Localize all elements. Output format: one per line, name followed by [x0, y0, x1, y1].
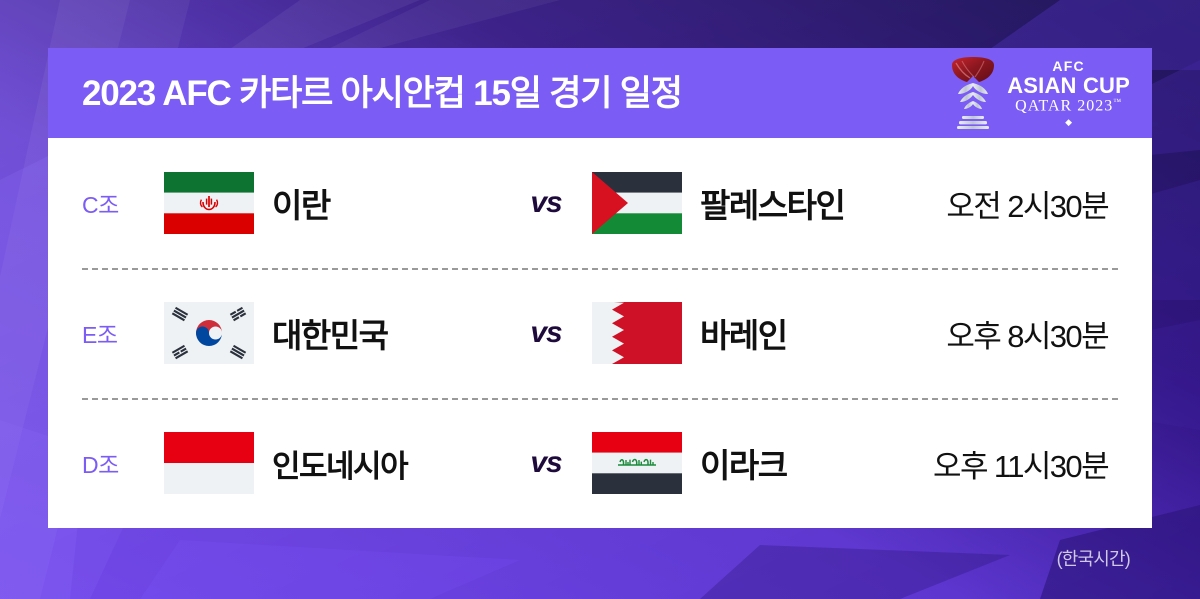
home-team: 대한민국	[164, 302, 500, 364]
vs-label: vs	[500, 316, 592, 350]
home-team: 이란	[164, 172, 500, 234]
vs-label: vs	[500, 186, 592, 220]
card-header: 2023 AFC 카타르 아시안컵 15일 경기 일정	[48, 48, 1152, 138]
logo-line-afc: AFC	[1052, 59, 1084, 73]
vs-label: vs	[500, 446, 592, 480]
timezone-note: (한국시간)	[1057, 545, 1130, 571]
iraq-flag	[592, 432, 682, 494]
team-name: 대한민국	[272, 309, 387, 357]
iran-flag	[164, 172, 254, 234]
trophy-icon	[946, 56, 1000, 130]
team-name: 인도네시아	[272, 441, 407, 486]
away-team: 이라크	[592, 432, 922, 494]
team-name: 바레인	[700, 309, 787, 357]
match-time: 오후 11시30분	[922, 441, 1118, 486]
diamond-icon: ◆	[1065, 118, 1072, 127]
logo-line-qatar-2023: QATAR 2023™	[1015, 98, 1122, 114]
group-label: D조	[82, 446, 164, 480]
away-team: 바레인	[592, 302, 922, 364]
match-list: C조	[48, 138, 1152, 528]
logo-wordmark: AFC ASIAN CUP QATAR 2023™ ◆	[1007, 59, 1130, 126]
match-row[interactable]: D조 인도네시아 vs	[82, 398, 1118, 528]
team-name: 팔레스타인	[700, 179, 844, 227]
match-time: 오전 2시30분	[922, 181, 1118, 226]
team-name: 이라크	[700, 439, 787, 487]
south-korea-flag	[164, 302, 254, 364]
group-label: C조	[82, 186, 164, 220]
bahrain-flag	[592, 302, 682, 364]
match-row[interactable]: E조	[82, 268, 1118, 398]
home-team: 인도네시아	[164, 432, 500, 494]
team-name: 이란	[272, 179, 330, 227]
trademark-symbol: ™	[1113, 97, 1122, 106]
logo-line-asian-cup: ASIAN CUP	[1007, 75, 1130, 97]
page-title: 2023 AFC 카타르 아시안컵 15일 경기 일정	[82, 76, 682, 111]
palestine-flag	[592, 172, 682, 234]
away-team: 팔레스타인	[592, 172, 922, 234]
match-time: 오후 8시30분	[922, 311, 1118, 356]
group-label: E조	[82, 316, 164, 350]
schedule-card: 2023 AFC 카타르 아시안컵 15일 경기 일정	[48, 48, 1152, 528]
indonesia-flag	[164, 432, 254, 494]
afc-asian-cup-logo: AFC ASIAN CUP QATAR 2023™ ◆	[946, 56, 1130, 130]
match-row[interactable]: C조	[82, 138, 1118, 268]
